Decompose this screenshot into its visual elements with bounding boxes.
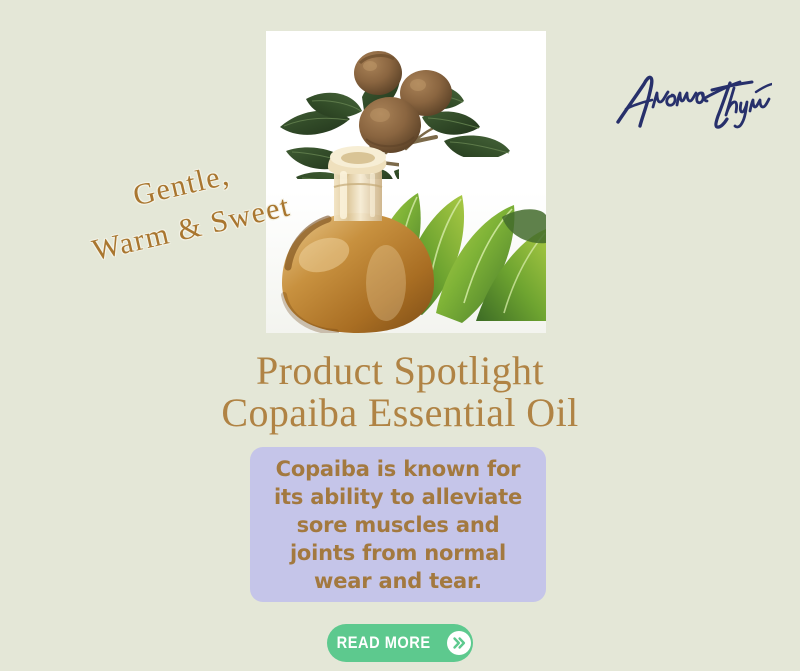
title-line-1: Product Spotlight — [0, 350, 800, 392]
copaiba-product-photo — [266, 31, 546, 333]
callout-line: sore muscles and — [257, 511, 539, 539]
benefit-callout-text: Copaiba is known for its ability to alle… — [257, 455, 539, 595]
callout-line: Copaiba is known for — [257, 455, 539, 483]
aroma-thyme-logo[interactable]: Aroma Thyme — [612, 62, 772, 132]
callout-line: wear and tear. — [257, 567, 539, 595]
read-more-button[interactable]: READ MORE — [327, 624, 473, 662]
poster-canvas: Aroma Thyme — [0, 0, 800, 671]
page-title: Product Spotlight Copaiba Essential Oil — [0, 350, 800, 434]
title-line-2: Copaiba Essential Oil — [0, 392, 800, 434]
read-more-label: READ MORE — [336, 633, 430, 653]
benefit-callout-box: Copaiba is known for its ability to alle… — [250, 447, 546, 602]
double-chevron-right-icon — [447, 631, 471, 655]
callout-line: joints from normal — [257, 539, 539, 567]
callout-line: its ability to alleviate — [257, 483, 539, 511]
